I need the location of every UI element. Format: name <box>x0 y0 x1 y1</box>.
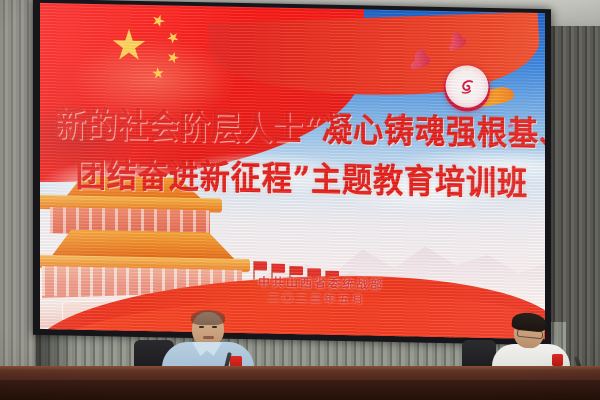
emblem-stars <box>444 65 490 112</box>
table-front-panel <box>0 380 600 400</box>
dove-icon-1 <box>408 49 434 73</box>
table-edge <box>0 366 600 371</box>
person-1-eye-left <box>199 326 204 328</box>
mini-flag-4 <box>290 266 303 275</box>
photo-scene: 新的社会阶层人士“凝心铸魂强根基、 团结奋进新征程”主题教育培训班 中共山西省委… <box>0 0 600 400</box>
person-2-red-badge <box>552 354 563 366</box>
mini-flag-2 <box>254 261 267 270</box>
person-1-mouth <box>203 336 214 339</box>
person-1-hair <box>191 310 225 325</box>
mini-flag-3 <box>272 264 285 273</box>
emblem-icon <box>444 65 490 112</box>
led-screen: 新的社会阶层人士“凝心铸魂强根基、 团结奋进新征程”主题教育培训班 中共山西省委… <box>40 3 545 339</box>
petal-1 <box>398 114 404 118</box>
person-1-eye-right <box>212 326 217 328</box>
petal-4 <box>508 124 513 127</box>
